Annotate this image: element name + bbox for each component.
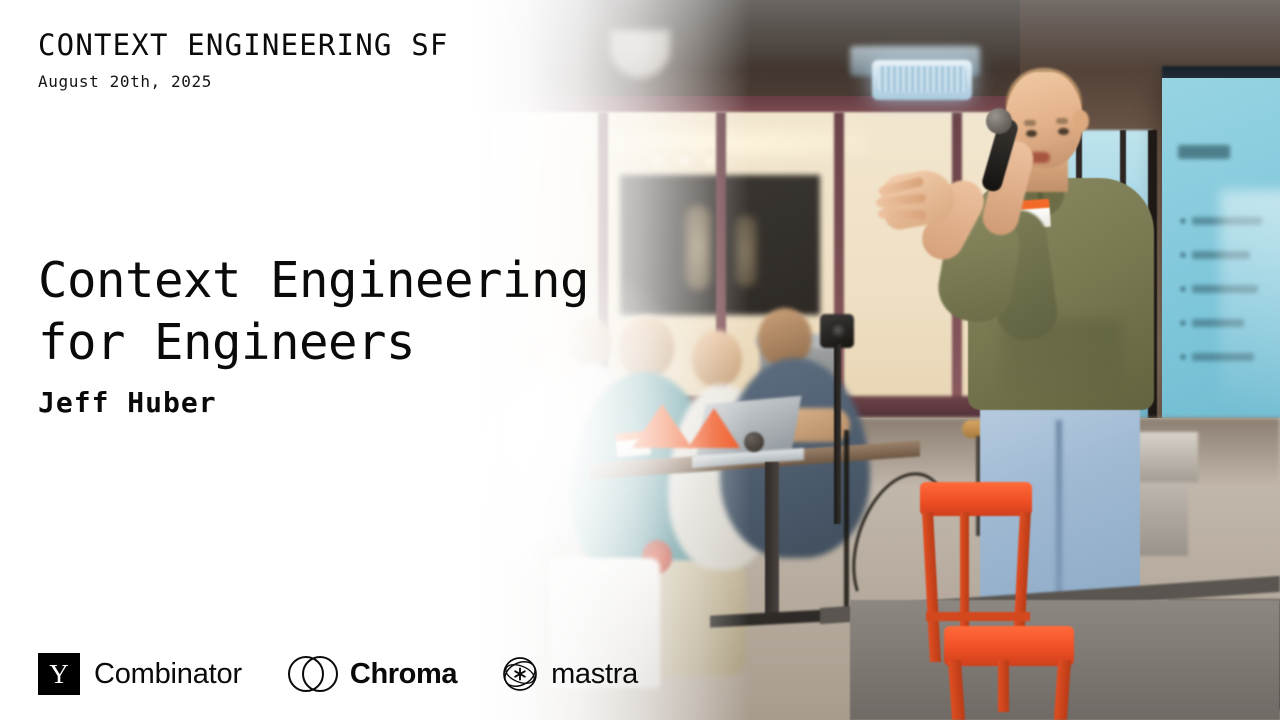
speaker-eye xyxy=(1058,128,1069,135)
sponsor-logo-ycombinator: Y Combinator xyxy=(38,653,242,695)
talk-title: Context Engineering for Engineers xyxy=(38,250,589,374)
presentation-slide: CONTEXT ENGINEERING SF August 20th, 2025… xyxy=(0,0,1280,720)
event-date: August 20th, 2025 xyxy=(38,72,212,91)
slide-bullet-dot xyxy=(1180,218,1186,224)
event-name: CONTEXT ENGINEERING SF xyxy=(38,28,449,62)
sponsor-logo-row: Y Combinator Chroma xyxy=(38,650,638,698)
microphone-head xyxy=(986,108,1012,134)
sponsor-logo-chroma: Chroma xyxy=(288,656,457,692)
speaker-eyebrow xyxy=(1056,118,1068,124)
mastra-sketch-circle-asterisk-logo xyxy=(501,655,539,693)
slide-bullet-dot xyxy=(1180,286,1186,292)
slide-bullet-dot xyxy=(1180,252,1186,258)
speaker-eye xyxy=(1026,130,1037,137)
speaker-ear xyxy=(1073,110,1089,132)
slide-bullet-dot xyxy=(1180,320,1186,326)
camera-stand-pole xyxy=(834,344,841,524)
sponsor-logo-mastra: mastra xyxy=(501,655,638,693)
camera-lens xyxy=(830,322,846,338)
yc-wordmark: Combinator xyxy=(94,658,242,691)
speaker-name: Jeff Huber xyxy=(38,386,217,419)
chroma-wordmark: Chroma xyxy=(350,658,457,691)
talk-title-line-2: for Engineers xyxy=(38,312,589,374)
photo-top-fade xyxy=(420,0,1280,70)
slide-bullet-dot xyxy=(1180,354,1186,360)
chroma-overlapping-circles-logo xyxy=(288,656,338,692)
av-cable xyxy=(844,430,849,610)
talk-title-line-1: Context Engineering xyxy=(38,250,589,312)
av-table-leg xyxy=(765,462,779,622)
mastra-wordmark: mastra xyxy=(551,658,638,691)
slide-heading-blur xyxy=(1178,145,1230,159)
hand-finger xyxy=(878,209,926,220)
yc-square-logo: Y xyxy=(38,653,80,695)
speaker-eyebrow xyxy=(1024,120,1036,126)
